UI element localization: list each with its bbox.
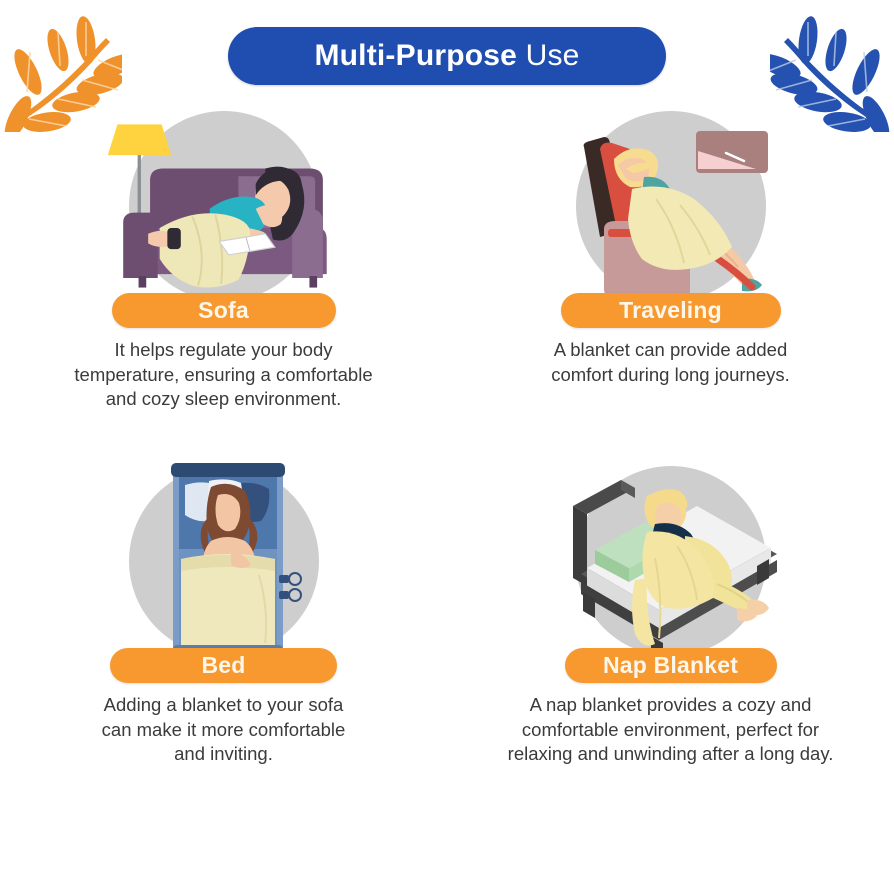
card-label-traveling[interactable]: Traveling [561,293,781,328]
page-title-banner: Multi-Purpose Use [228,27,666,85]
card-traveling: Traveling A blanket can provide added co… [447,105,894,455]
page-title-strong: Multi-Purpose [314,39,517,72]
illustration-bed [104,455,344,660]
card-description-sofa: It helps regulate your body temperature,… [74,338,372,412]
infographic-page: Multi-Purpose Use [0,0,894,894]
page-title: Multi-Purpose Use [314,39,579,73]
card-description-nap-blanket: A nap blanket provides a cozy and comfor… [508,693,834,767]
card-label-sofa[interactable]: Sofa [112,293,336,328]
illustration-sofa [104,105,344,305]
card-label-nap-blanket[interactable]: Nap Blanket [565,648,777,683]
card-bed: Bed Adding a blanket to your sofa can ma… [0,455,447,805]
bed-top-view-icon [119,455,329,660]
card-nap-blanket: Nap Blanket A nap blanket provides a coz… [447,455,894,805]
traveling-scene-icon [556,107,786,305]
page-title-light: Use [517,39,580,72]
card-sofa: Sofa It helps regulate your body tempera… [0,105,447,455]
use-case-grid: Sofa It helps regulate your body tempera… [0,105,894,805]
card-description-traveling: A blanket can provide added comfort duri… [551,338,790,387]
sofa-scene-icon [104,105,344,305]
card-label-bed[interactable]: Bed [110,648,337,683]
nap-blanket-scene-icon [551,458,791,660]
illustration-nap-blanket [551,455,791,660]
card-description-bed: Adding a blanket to your sofa can make i… [102,693,346,767]
illustration-traveling [551,105,791,305]
